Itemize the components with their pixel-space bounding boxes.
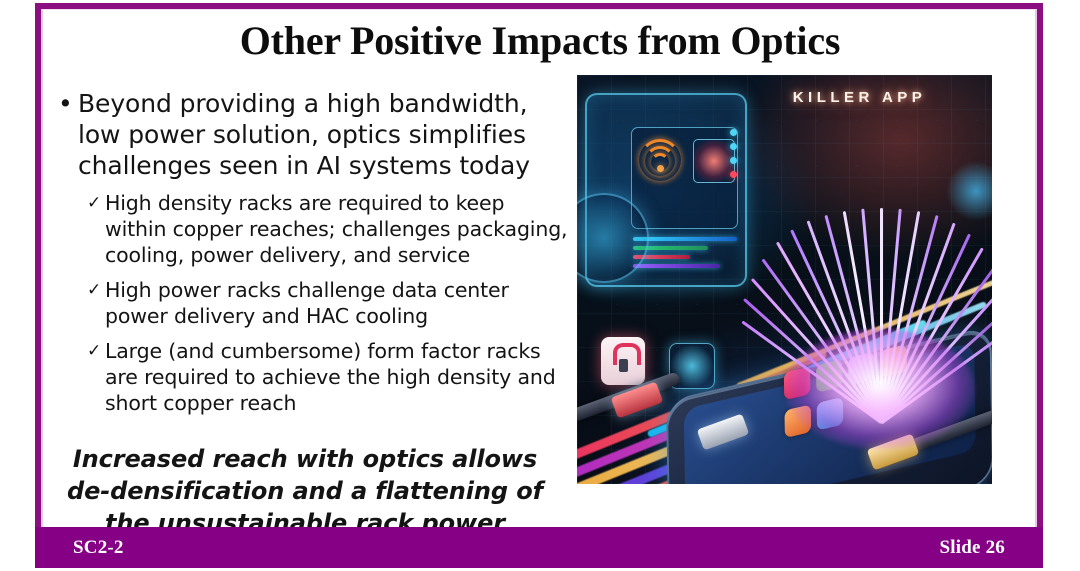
check-icon: ✓ [87, 338, 105, 364]
sub-bullet-item: ✓ High density racks are required to kee… [87, 190, 568, 268]
page-title: Other Positive Impacts from Optics [45, 18, 1035, 64]
wifi-icon [639, 139, 681, 173]
sub-bullet-text: High power racks challenge data center p… [105, 277, 568, 329]
sub-bullet-list: ✓ High density racks are required to kee… [58, 190, 568, 416]
signal-cell-icon [693, 139, 735, 183]
killer-app-overlay-text: KILLER APP [577, 89, 992, 106]
slide: Other Positive Impacts from Optics • Bey… [0, 0, 1080, 568]
sub-bullet-item: ✓ Large (and cumbersome) form factor rac… [87, 338, 568, 416]
fiber-base-glow [785, 329, 975, 449]
main-bullet: • Beyond providing a high bandwidth, low… [58, 88, 568, 181]
slide-image: KILLER APP [577, 75, 992, 484]
check-icon: ✓ [87, 190, 105, 216]
main-bullet-text: Beyond providing a high bandwidth, low p… [78, 88, 568, 181]
content-column: • Beyond providing a high bandwidth, low… [58, 88, 568, 571]
footer-course-code: SC2-2 [73, 537, 124, 559]
bullet-dot-icon: • [58, 88, 78, 119]
check-icon: ✓ [87, 277, 105, 303]
footer-slide-number: Slide 26 [940, 537, 1005, 559]
fiber-optic-burst [755, 133, 992, 423]
sub-bullet-item: ✓ High power racks challenge data center… [87, 277, 568, 329]
sub-bullet-text: High density racks are required to keep … [105, 190, 568, 268]
hud-status-dots [730, 129, 737, 185]
sub-bullet-text: Large (and cumbersome) form factor racks… [105, 338, 568, 416]
footer-bar: SC2-2 Slide 26 [35, 527, 1043, 568]
lock-icon [601, 337, 645, 385]
